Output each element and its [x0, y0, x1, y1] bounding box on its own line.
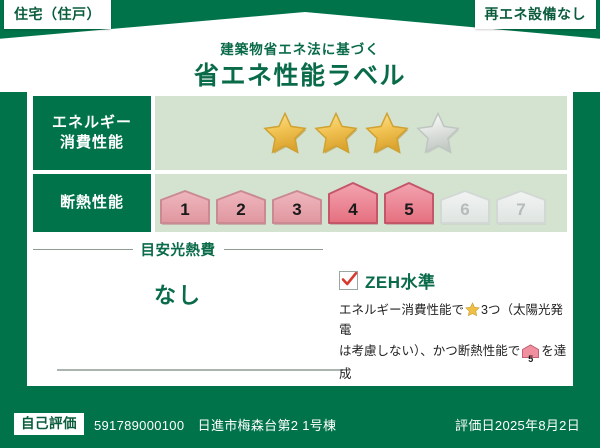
zeh-title: ZEH水準 — [365, 268, 436, 293]
insulation-level-4: 4 — [327, 181, 379, 226]
insulation-performance-row: 断熱性能 1234567 — [33, 174, 567, 232]
renewable-energy-tag: 再エネ設備なし — [475, 0, 597, 29]
heading-rule-right — [224, 249, 324, 250]
footer-eval-date: 評価日2025年8月2日 — [455, 415, 580, 434]
insulation-level-3: 3 — [271, 189, 323, 226]
energy-performance-label: 住宅（住戸） 再エネ設備なし 建築物省エネ法に基づく 省エネ性能ラベル エネルギ… — [0, 0, 600, 448]
zeh-checkbox[interactable] — [339, 271, 358, 290]
heading-rule-left — [33, 249, 133, 250]
label-header: 住宅（住戸） 再エネ設備なし 建築物省エネ法に基づく 省エネ性能ラベル — [0, 0, 600, 92]
utility-cost-value: なし — [33, 278, 323, 310]
footer-id-address: 591789000100 日進市梅森台第2 1号棟 — [94, 415, 336, 434]
star-icon-empty — [416, 111, 460, 155]
star-icon-filled — [263, 111, 307, 155]
star-icon-filled — [365, 111, 409, 155]
insulation-level-1: 1 — [159, 189, 211, 226]
energy-performance-label-box: エネルギー 消費性能 — [33, 96, 151, 170]
house-icon — [215, 189, 267, 226]
page-title: 省エネ性能ラベル — [0, 56, 600, 92]
label-panel: エネルギー 消費性能 断熱性能 1234567 目安光熱費 なし — [27, 88, 573, 386]
zeh-desc-part1: エネルギー消費性能で — [339, 303, 464, 317]
header-subtitle: 建築物省エネ法に基づく — [0, 38, 600, 58]
insulation-level-7: 7 — [495, 189, 547, 226]
label-footer: 自己評価 591789000100 日進市梅森台第2 1号棟 評価日2025年8… — [0, 400, 600, 448]
building-type-tag: 住宅（住戸） — [4, 0, 111, 29]
insulation-level-scale: 1234567 — [155, 181, 567, 226]
star-icon-inline — [465, 302, 480, 317]
self-evaluation-badge: 自己評価 — [14, 413, 84, 436]
star-rating — [263, 111, 460, 155]
insulation-level-6: 6 — [439, 189, 491, 226]
insulation-levels-band: 1234567 — [155, 174, 567, 232]
insulation-performance-label-box: 断熱性能 — [33, 174, 151, 232]
cost-divider — [57, 369, 343, 371]
energy-label-line1: エネルギー — [52, 113, 132, 133]
utility-cost-heading: 目安光熱費 — [33, 240, 323, 258]
zeh-section: ZEH水準 エネルギー消費性能で3つ（太陽光発電 は考慮しない）、かつ断熱性能で… — [339, 268, 567, 384]
energy-performance-row: エネルギー 消費性能 — [33, 96, 567, 170]
house-icon — [159, 189, 211, 226]
zeh-description: エネルギー消費性能で3つ（太陽光発電 は考慮しない）、かつ断熱性能で5を達成 — [339, 300, 567, 384]
house-icon — [495, 189, 547, 226]
check-icon — [340, 270, 359, 289]
house-icon — [383, 181, 435, 226]
insulation-badge-number: 5 — [522, 355, 539, 364]
star-icon-filled — [314, 111, 358, 155]
energy-performance-stars-band — [155, 96, 567, 170]
insulation-label: 断熱性能 — [60, 193, 124, 213]
house-icon — [439, 189, 491, 226]
insulation-level-2: 2 — [215, 189, 267, 226]
house-icon — [327, 181, 379, 226]
zeh-desc-part3: は考慮しない）、かつ断熱性能で — [339, 344, 520, 358]
zeh-header: ZEH水準 — [339, 268, 567, 293]
insulation-level-5: 5 — [383, 181, 435, 226]
utility-cost-heading-text: 目安光熱費 — [133, 239, 224, 260]
insulation-badge-inline: 5 — [522, 344, 539, 364]
house-icon — [271, 189, 323, 226]
energy-label-line2: 消費性能 — [60, 133, 124, 153]
